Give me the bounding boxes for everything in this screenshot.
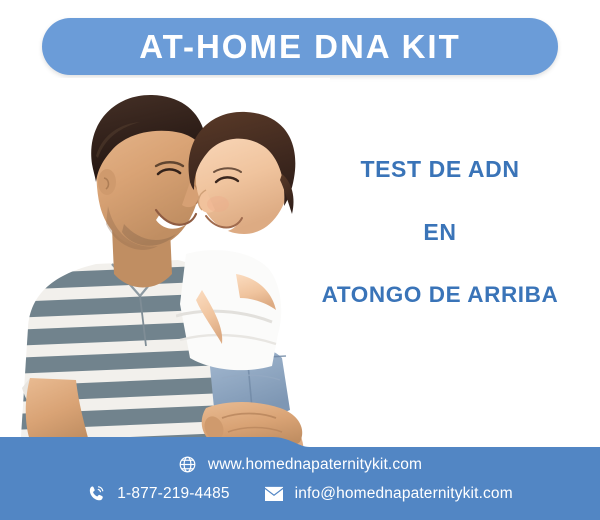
headline-line-2: EN — [290, 221, 590, 244]
footer-phone-text[interactable]: 1-877-219-4485 — [117, 486, 229, 502]
footer-email-item[interactable]: info@homednapaternitykit.com — [264, 486, 513, 502]
footer-website-row: www.homednapaternitykit.com — [0, 455, 600, 474]
envelope-icon — [264, 486, 284, 502]
flyer-canvas: AT-HOME DNA KIT — [0, 0, 600, 520]
footer-website-text[interactable]: www.homednapaternitykit.com — [208, 457, 422, 473]
footer-contact-row: 1-877-219-4485 info@homednapaternitykit.… — [0, 484, 600, 503]
family-photo-illustration — [0, 78, 330, 452]
header-title: AT-HOME DNA KIT — [139, 30, 460, 63]
footer-email-text[interactable]: info@homednapaternitykit.com — [295, 486, 513, 502]
phone-icon — [87, 484, 106, 503]
headline-line-1: TEST DE ADN — [290, 158, 590, 181]
location-headline: TEST DE ADN EN ATONGO DE ARRIBA — [290, 158, 590, 307]
family-photo — [0, 78, 330, 452]
header-banner: AT-HOME DNA KIT — [42, 18, 558, 75]
globe-icon — [178, 455, 197, 474]
footer-bar: www.homednapaternitykit.com 1-877-219-44… — [0, 430, 600, 520]
headline-line-3: ATONGO DE ARRIBA — [290, 284, 590, 307]
footer-phone-item[interactable]: 1-877-219-4485 — [87, 484, 229, 503]
